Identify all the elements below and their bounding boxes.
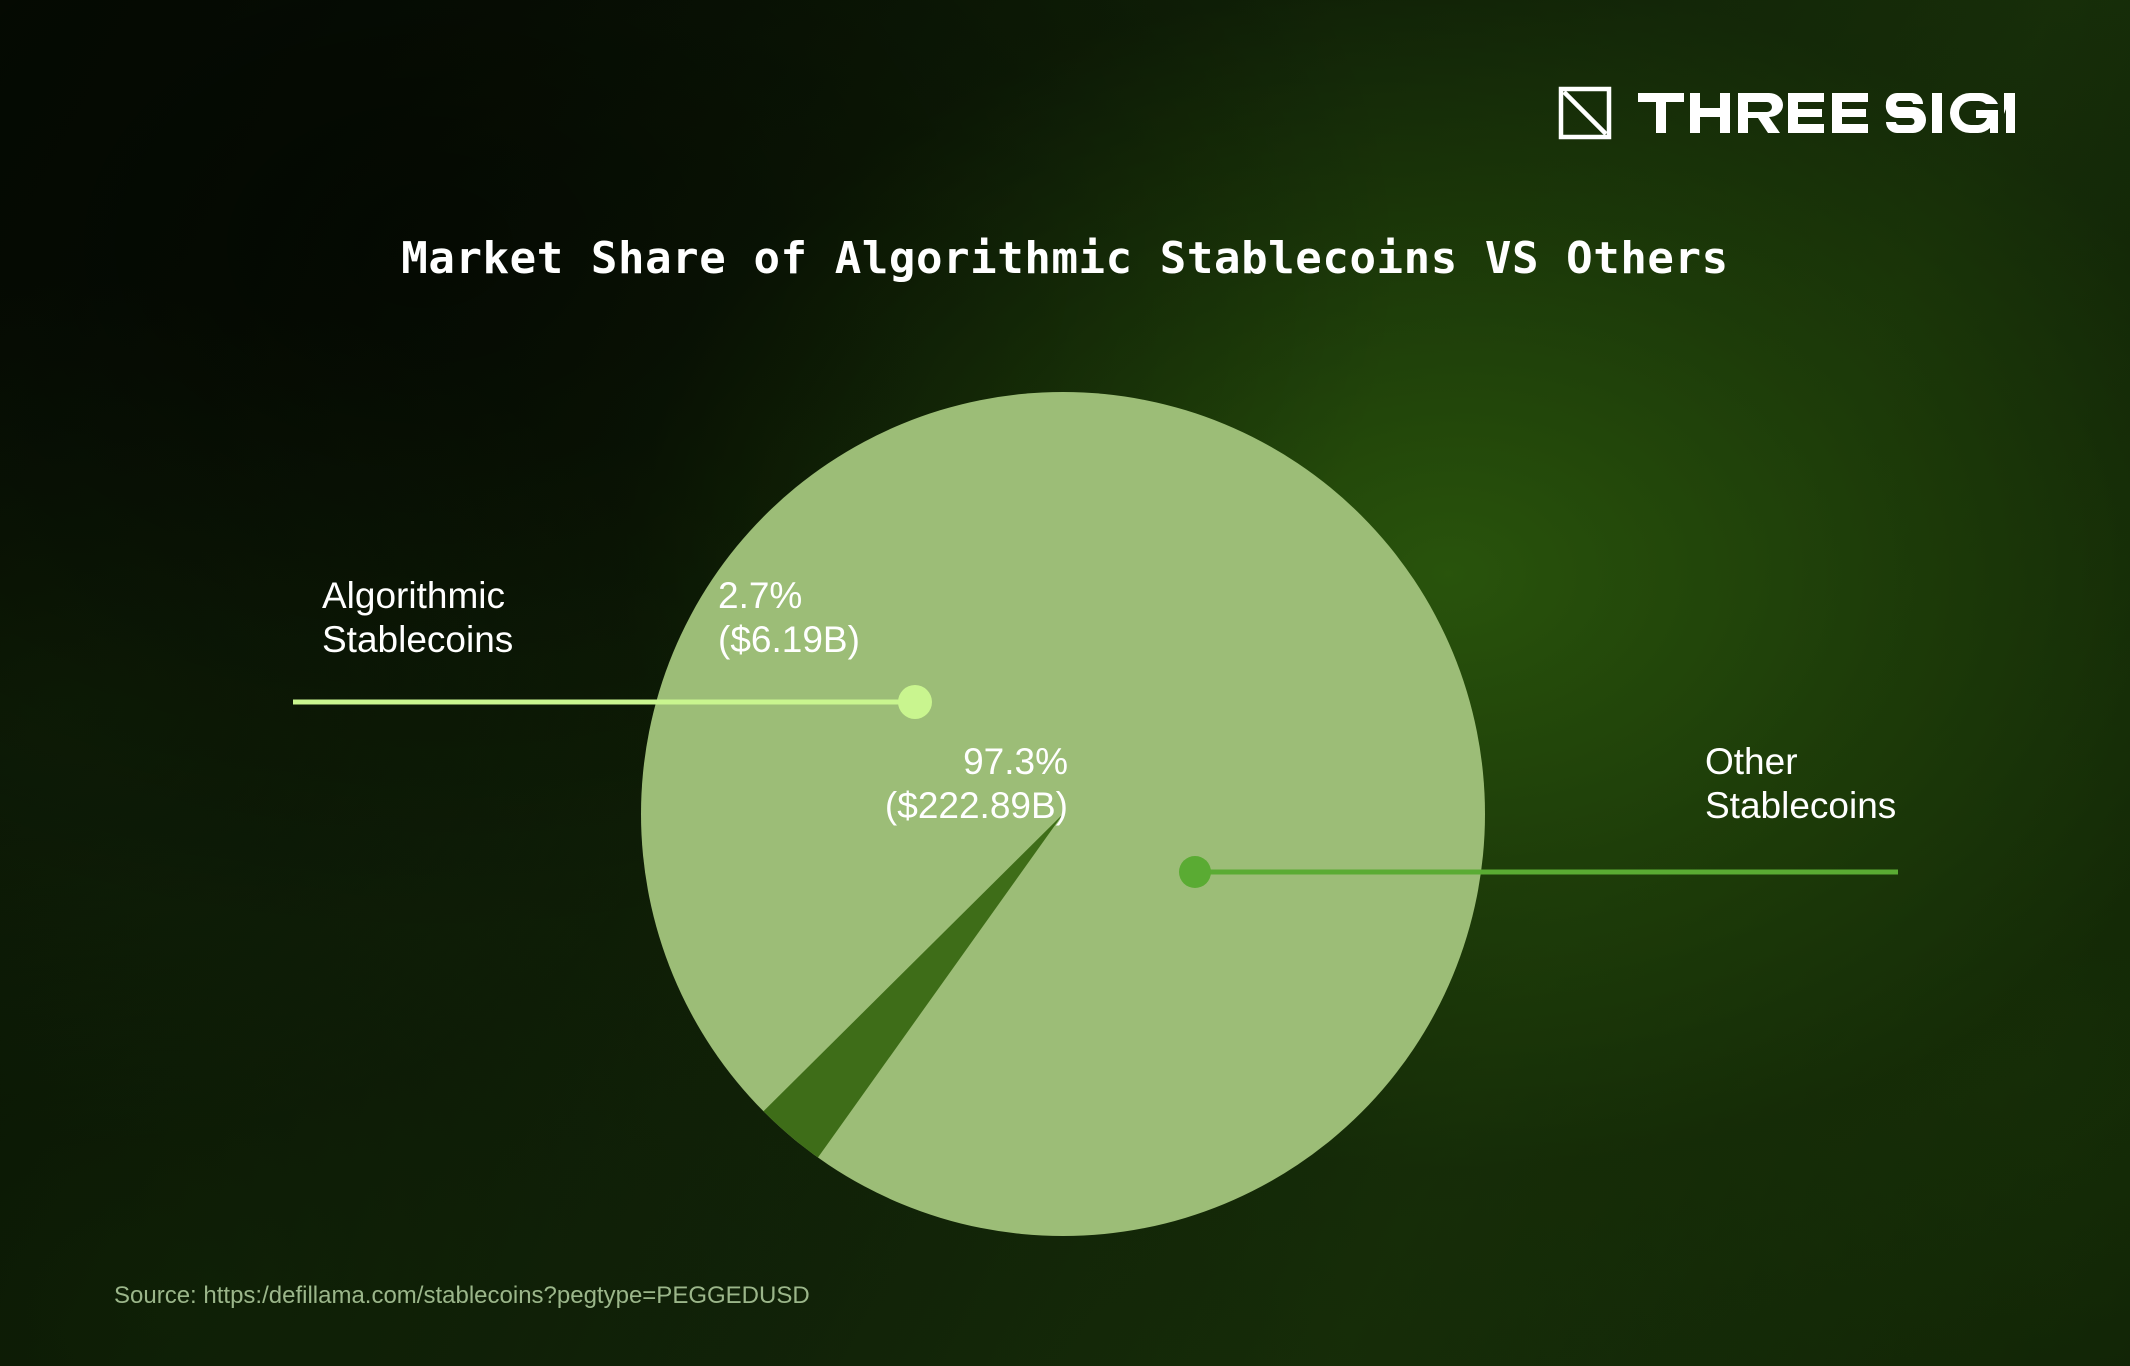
brand-logo bbox=[1558, 86, 2018, 140]
label-algorithmic-stablecoins: Algorithmic Stablecoins bbox=[322, 574, 513, 661]
chart-title: Market Share of Algorithmic Stablecoins … bbox=[0, 233, 2130, 284]
value-algorithmic-amount: ($6.19B) bbox=[718, 618, 860, 662]
pie-chart bbox=[0, 0, 2130, 1366]
brand-wordmark bbox=[1638, 91, 2018, 135]
value-other-stablecoins: 97.3% ($222.89B) bbox=[885, 740, 1068, 827]
label-algorithmic-line2: Stablecoins bbox=[322, 618, 513, 662]
chart-canvas: Market Share of Algorithmic Stablecoins … bbox=[0, 0, 2130, 1366]
source-note: Source: https:/defillama.com/stablecoins… bbox=[114, 1282, 810, 1310]
leader-dot-algorithmic bbox=[898, 685, 932, 719]
label-other-line2: Stablecoins bbox=[1705, 784, 1896, 828]
value-other-amount: ($222.89B) bbox=[885, 784, 1068, 828]
label-other-stablecoins: Other Stablecoins bbox=[1705, 740, 1896, 827]
value-algorithmic-percent: 2.7% bbox=[718, 575, 802, 616]
label-other-line1: Other bbox=[1705, 741, 1798, 782]
leader-dot-other bbox=[1179, 856, 1211, 888]
value-other-percent: 97.3% bbox=[963, 741, 1068, 782]
three-sigma-square-mark-icon bbox=[1558, 86, 1612, 140]
value-algorithmic-stablecoins: 2.7% ($6.19B) bbox=[718, 574, 860, 661]
label-algorithmic-line1: Algorithmic bbox=[322, 575, 505, 616]
